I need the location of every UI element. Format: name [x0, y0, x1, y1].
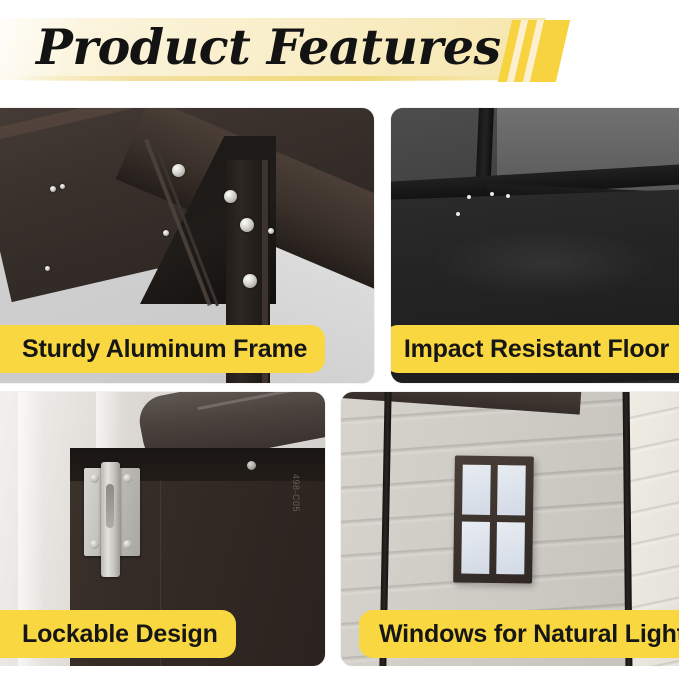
header-banner: Product Features — [0, 0, 679, 108]
latch-screw — [90, 540, 99, 549]
door-stamp-code: 498-C05 — [291, 474, 301, 512]
page-title: Product Features — [36, 16, 501, 78]
latch-slide-slot — [106, 484, 114, 528]
frame-bolt — [268, 228, 274, 234]
window-pane-top-left — [462, 465, 491, 515]
floor-rail-screw — [490, 192, 494, 196]
window-pane-bottom-left — [461, 522, 490, 574]
frame-bolt — [224, 190, 237, 203]
frame-bolt — [172, 164, 185, 177]
frame-bolt — [163, 230, 169, 236]
floor-rail-screw — [506, 194, 510, 198]
floor-sheen-highlight — [431, 228, 661, 298]
window-pane-top-right — [497, 465, 526, 515]
feature-label-lockable-design: Lockable Design — [0, 610, 236, 658]
frame-bolt — [50, 186, 56, 192]
feature-label-sturdy-aluminum-frame: Sturdy Aluminum Frame — [0, 325, 325, 373]
feature-card-windows-for-natural-light[interactable]: Windows for Natural Light — [341, 392, 679, 666]
frame-bolt — [240, 218, 254, 232]
floor-rail-screw — [456, 212, 460, 216]
feature-card-lockable-design[interactable]: 498-C05 Lockable Design — [0, 392, 325, 666]
feature-label-windows-for-natural-light: Windows for Natural Light — [359, 610, 679, 658]
shed-window — [453, 455, 534, 583]
latch-screw — [90, 474, 99, 483]
feature-card-impact-resistant-floor[interactable]: Impact Resistant Floor — [391, 108, 679, 383]
latch-screw — [123, 540, 132, 549]
frame-bolt — [45, 266, 50, 271]
feature-card-sturdy-aluminum-frame[interactable]: Sturdy Aluminum Frame — [0, 108, 374, 383]
frame-bolt — [60, 184, 65, 189]
window-pane-bottom-right — [496, 522, 525, 574]
feature-label-impact-resistant-floor: Impact Resistant Floor — [391, 325, 679, 373]
feature-grid: Sturdy Aluminum Frame Impact Resistant F… — [0, 108, 679, 679]
bottom-margin — [0, 666, 679, 679]
floor-rail-screw — [467, 195, 471, 199]
latch-screw — [123, 474, 132, 483]
frame-bolt — [243, 274, 257, 288]
product-features-infographic: Product Features — [0, 0, 679, 679]
door-rivet — [247, 461, 256, 470]
